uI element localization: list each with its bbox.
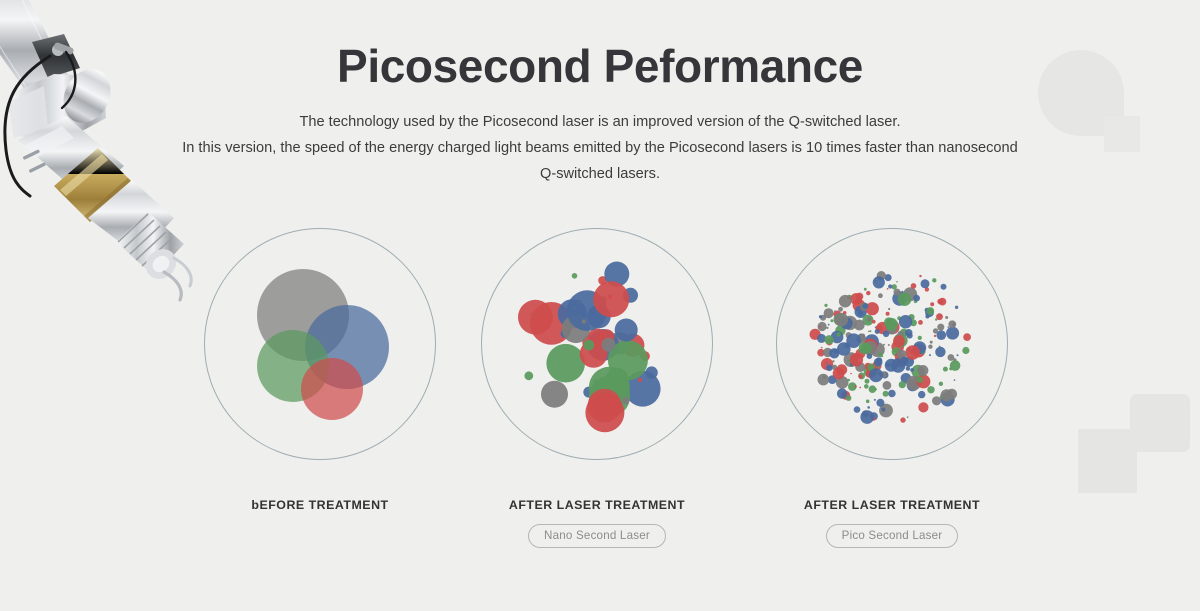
page-subtitle: The technology used by the Picosecond la… <box>0 93 1200 187</box>
subtitle-line-1: The technology used by the Picosecond la… <box>0 109 1200 135</box>
page-root: Picosecond Peformance The technology use… <box>0 0 1200 611</box>
panel-after-pico: AFTER LASER TREATMENT Pico Second Laser <box>742 228 1042 548</box>
badge-nano-second-laser[interactable]: Nano Second Laser <box>528 524 666 548</box>
panel-after-nano: AFTER LASER TREATMENT Nano Second Laser <box>447 228 747 548</box>
subtitle-line-3: Q-switched lasers. <box>0 161 1200 187</box>
pill-placeholder-before <box>170 512 470 541</box>
petri-dish-before <box>204 228 436 460</box>
petri-dish-pico <box>776 228 1008 460</box>
panel-caption-before: bEFORE TREATMENT <box>170 498 470 512</box>
pigment-blobs-before <box>205 229 437 461</box>
panel-caption-nano: AFTER LASER TREATMENT <box>447 498 747 512</box>
page-header: Picosecond Peformance The technology use… <box>0 0 1200 187</box>
badge-pico-second-laser[interactable]: Pico Second Laser <box>826 524 959 548</box>
subtitle-line-2: In this version, the speed of the energy… <box>0 135 1200 161</box>
pigment-particles-pico <box>777 229 1009 461</box>
panel-caption-pico: AFTER LASER TREATMENT <box>742 498 1042 512</box>
page-title: Picosecond Peformance <box>0 0 1200 93</box>
pigment-particles-nano <box>482 229 714 461</box>
panel-before-treatment: bEFORE TREATMENT <box>170 228 470 541</box>
comparison-panels: bEFORE TREATMENT AFTER LASER TREATMENT N… <box>0 228 1200 568</box>
petri-dish-nano <box>481 228 713 460</box>
